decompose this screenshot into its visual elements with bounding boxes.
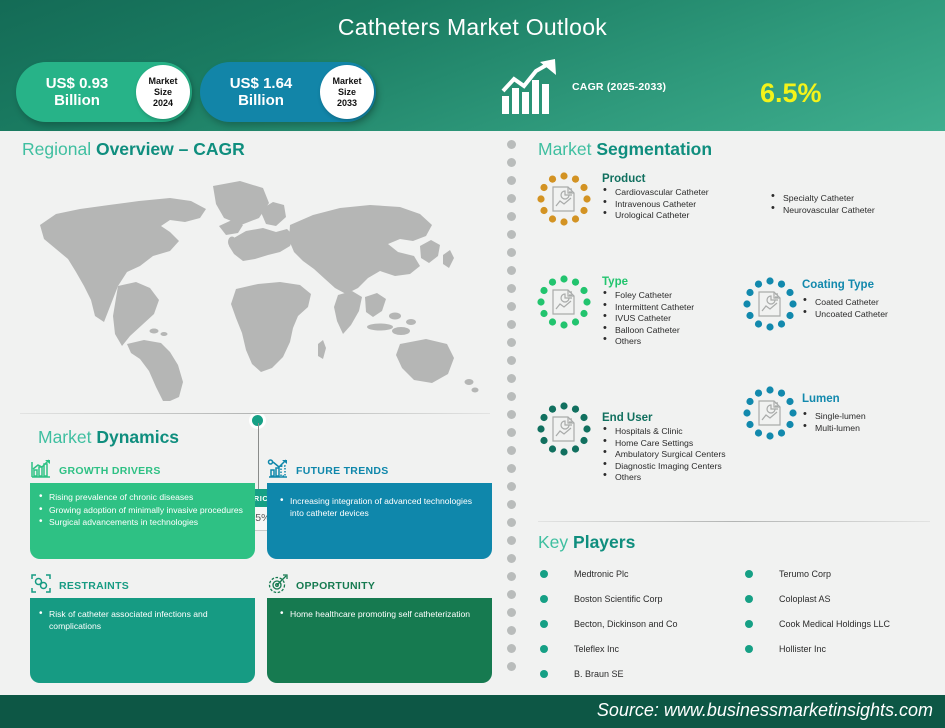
segmentation-title-part2: Segmentation xyxy=(596,139,712,159)
card-header: FUTURE TRENDS xyxy=(267,459,492,483)
segment-end-user: End User Hospitals & Clinic Home Care Se… xyxy=(602,412,797,484)
list-item: Intermittent Catheter xyxy=(602,302,752,314)
cagr-label: CAGR (2025-2033) xyxy=(572,81,666,93)
segment-list: Coated Catheter Uncoated Catheter xyxy=(802,297,912,320)
market-size-2024-unit: Billion xyxy=(54,92,100,109)
player-name: Terumo Corp xyxy=(779,569,831,579)
market-size-2033-value: US$ 1.64 Billion xyxy=(202,75,320,109)
card-label: FUTURE TRENDS xyxy=(296,465,389,477)
document-chart-ring-icon xyxy=(536,274,592,330)
card-list: Increasing integration of advanced techn… xyxy=(279,496,482,519)
list-item: Increasing integration of advanced techn… xyxy=(279,496,482,519)
card-label: RESTRAINTS xyxy=(59,580,129,592)
section-divider xyxy=(538,521,930,522)
market-size-2024-amount: US$ 0.93 xyxy=(46,75,109,92)
segment-type: Type Foley Catheter Intermittent Cathete… xyxy=(602,276,752,348)
badge-line-1: Market xyxy=(148,76,177,87)
key-players-column-1: Medtronic Plc Boston Scientific Corp Bec… xyxy=(540,561,750,711)
vertical-dot-divider xyxy=(507,140,516,695)
callout-stem xyxy=(258,423,259,489)
footer-bar: Source: www.businessmarketinsights.com xyxy=(0,695,945,728)
dynamics-title-part2: Dynamics xyxy=(96,427,179,447)
segment-list: Hospitals & Clinic Home Care Settings Am… xyxy=(602,426,797,484)
market-size-2033-pill: US$ 1.64 Billion Market Size 2033 xyxy=(200,62,376,122)
market-size-2024-pill: US$ 0.93 Billion Market Size 2024 xyxy=(16,62,192,122)
list-item: Cook Medical Holdings LLC xyxy=(745,611,945,636)
segment-heading: Product xyxy=(602,173,772,185)
market-size-2033-amount: US$ 1.64 xyxy=(230,75,293,92)
list-item: Coated Catheter xyxy=(802,297,912,309)
player-name: Becton, Dickinson and Co xyxy=(574,619,678,629)
list-item: Hollister Inc xyxy=(745,636,945,661)
bullet-dot-icon xyxy=(540,570,548,578)
list-item: Coloplast AS xyxy=(745,586,945,611)
page-title: Catheters Market Outlook xyxy=(0,14,945,41)
card-list: Home healthcare promoting self catheteri… xyxy=(279,609,482,621)
badge-line-3: 2024 xyxy=(153,98,173,109)
document-chart-ring-icon xyxy=(536,401,592,457)
bullet-dot-icon xyxy=(745,620,753,628)
card-body: Increasing integration of advanced techn… xyxy=(267,483,492,559)
section-divider xyxy=(20,413,490,414)
right-column: Market Segmentation xyxy=(520,131,945,695)
bullet-dot-icon xyxy=(540,645,548,653)
segment-product-col2: Specialty Catheter Neurovascular Cathete… xyxy=(770,193,935,216)
segment-list: Foley Catheter Intermittent Catheter IVU… xyxy=(602,290,752,348)
market-size-2033-unit: Billion xyxy=(238,92,284,109)
list-item: Hospitals & Clinic xyxy=(602,426,797,438)
key-players-title-part2: Players xyxy=(573,532,635,552)
list-item: Teleflex Inc xyxy=(540,636,750,661)
target-dart-icon xyxy=(267,573,289,599)
badge-line-2: Size xyxy=(154,87,172,98)
bullet-dot-icon xyxy=(745,645,753,653)
segment-heading: End User xyxy=(602,412,797,424)
player-name: Medtronic Plc xyxy=(574,569,629,579)
market-dynamics-title: Market Dynamics xyxy=(38,427,179,448)
segment-list: Single-lumen Multi-lumen xyxy=(802,411,912,434)
trend-line-chart-icon xyxy=(267,458,289,484)
market-size-2033-badge: Market Size 2033 xyxy=(320,65,374,119)
list-item: Balloon Catheter xyxy=(602,325,752,337)
segment-heading: Lumen xyxy=(802,393,912,405)
segment-list: Specialty Catheter Neurovascular Cathete… xyxy=(770,193,935,216)
card-list: Rising prevalence of chronic diseases Gr… xyxy=(38,492,245,529)
card-body: Risk of catheter associated infections a… xyxy=(30,598,255,683)
list-item: B. Braun SE xyxy=(540,661,750,686)
card-future-trends: FUTURE TRENDS Increasing integration of … xyxy=(267,459,492,559)
card-header: GROWTH DRIVERS xyxy=(30,459,255,483)
list-item: Surgical advancements in technologies xyxy=(38,517,245,529)
list-item: Single-lumen xyxy=(802,411,912,423)
bullet-dot-icon xyxy=(745,570,753,578)
document-chart-ring-icon xyxy=(742,276,798,332)
card-label: GROWTH DRIVERS xyxy=(59,465,161,477)
badge-line-3: 2033 xyxy=(337,98,357,109)
list-item: Specialty Catheter xyxy=(770,193,935,205)
list-item: Uncoated Catheter xyxy=(802,309,912,321)
world-map xyxy=(20,166,490,401)
list-item: Rising prevalence of chronic diseases xyxy=(38,492,245,504)
card-list: Risk of catheter associated infections a… xyxy=(38,609,245,632)
card-body: Home healthcare promoting self catheteri… xyxy=(267,598,492,683)
key-players-column-2: Terumo Corp Coloplast AS Cook Medical Ho… xyxy=(745,561,945,661)
market-size-2024-value: US$ 0.93 Billion xyxy=(18,75,136,109)
segment-heading: Type xyxy=(602,276,752,288)
cagr-group: CAGR (2025-2033) xyxy=(500,58,666,116)
player-name: Cook Medical Holdings LLC xyxy=(779,619,890,629)
player-name: Boston Scientific Corp xyxy=(574,594,663,604)
list-item: Foley Catheter xyxy=(602,290,752,302)
list-item: Risk of catheter associated infections a… xyxy=(38,609,245,632)
player-name: Coloplast AS xyxy=(779,594,831,604)
bullet-dot-icon xyxy=(540,595,548,603)
source-text: Source: www.businessmarketinsights.com xyxy=(597,700,933,721)
player-name: Teleflex Inc xyxy=(574,644,619,654)
list-item: Boston Scientific Corp xyxy=(540,586,750,611)
list-item: Others xyxy=(602,472,797,484)
header-banner: Catheters Market Outlook US$ 0.93 Billio… xyxy=(0,0,945,131)
segmentation-title-part1: Market xyxy=(538,139,596,159)
segment-product: Product Cardiovascular Catheter Intraven… xyxy=(602,173,772,222)
list-item: Others xyxy=(602,336,752,348)
list-item: Becton, Dickinson and Co xyxy=(540,611,750,636)
chain-link-scan-icon xyxy=(30,573,52,599)
list-item: Medtronic Plc xyxy=(540,561,750,586)
list-item: Home Care Settings xyxy=(602,438,797,450)
bullet-dot-icon xyxy=(745,595,753,603)
document-chart-ring-icon xyxy=(536,171,592,227)
list-item: Intravenous Catheter xyxy=(602,199,772,211)
card-restraints: RESTRAINTS Risk of catheter associated i… xyxy=(30,574,255,683)
regional-title-part2: Overview – CAGR xyxy=(96,139,245,159)
card-label: OPPORTUNITY xyxy=(296,580,375,592)
list-item: IVUS Catheter xyxy=(602,313,752,325)
segment-coating-type: Coating Type Coated Catheter Uncoated Ca… xyxy=(802,279,912,320)
card-header: OPPORTUNITY xyxy=(267,574,492,598)
bullet-dot-icon xyxy=(540,620,548,628)
bar-chart-up-icon xyxy=(30,458,52,484)
dynamics-title-part1: Market xyxy=(38,427,96,447)
card-body: Rising prevalence of chronic diseases Gr… xyxy=(30,483,255,559)
segment-lumen: Lumen Single-lumen Multi-lumen xyxy=(802,393,912,434)
market-segmentation-title: Market Segmentation xyxy=(538,139,712,160)
list-item: Ambulatory Surgical Centers xyxy=(602,449,797,461)
list-item: Home healthcare promoting self catheteri… xyxy=(279,609,482,621)
key-players-title-part1: Key xyxy=(538,532,573,552)
card-opportunity: OPPORTUNITY Home healthcare promoting se… xyxy=(267,574,492,683)
list-item: Multi-lumen xyxy=(802,423,912,435)
list-item: Neurovascular Catheter xyxy=(770,205,935,217)
badge-line-1: Market xyxy=(332,76,361,87)
list-item: Diagnostic Imaging Centers xyxy=(602,461,797,473)
list-item: Growing adoption of minimally invasive p… xyxy=(38,505,245,517)
list-item: Cardiovascular Catheter xyxy=(602,187,772,199)
card-header: RESTRAINTS xyxy=(30,574,255,598)
player-name: B. Braun SE xyxy=(574,669,624,679)
left-column: Regional Overview – CAGR xyxy=(0,131,500,695)
market-size-2024-badge: Market Size 2024 xyxy=(136,65,190,119)
bullet-dot-icon xyxy=(540,670,548,678)
regional-title-part1: Regional xyxy=(22,139,96,159)
list-item: Urological Catheter xyxy=(602,210,772,222)
growth-bar-chart-arrow-icon xyxy=(500,58,560,116)
segment-list: Cardiovascular Catheter Intravenous Cath… xyxy=(602,187,772,222)
player-name: Hollister Inc xyxy=(779,644,826,654)
badge-line-2: Size xyxy=(338,87,356,98)
regional-overview-title: Regional Overview – CAGR xyxy=(22,139,245,160)
list-item: Terumo Corp xyxy=(745,561,945,586)
card-growth-drivers: GROWTH DRIVERS Rising prevalence of chro… xyxy=(30,459,255,559)
key-players-title: Key Players xyxy=(538,532,635,553)
cagr-value: 6.5% xyxy=(760,78,822,109)
segment-heading: Coating Type xyxy=(802,279,912,291)
